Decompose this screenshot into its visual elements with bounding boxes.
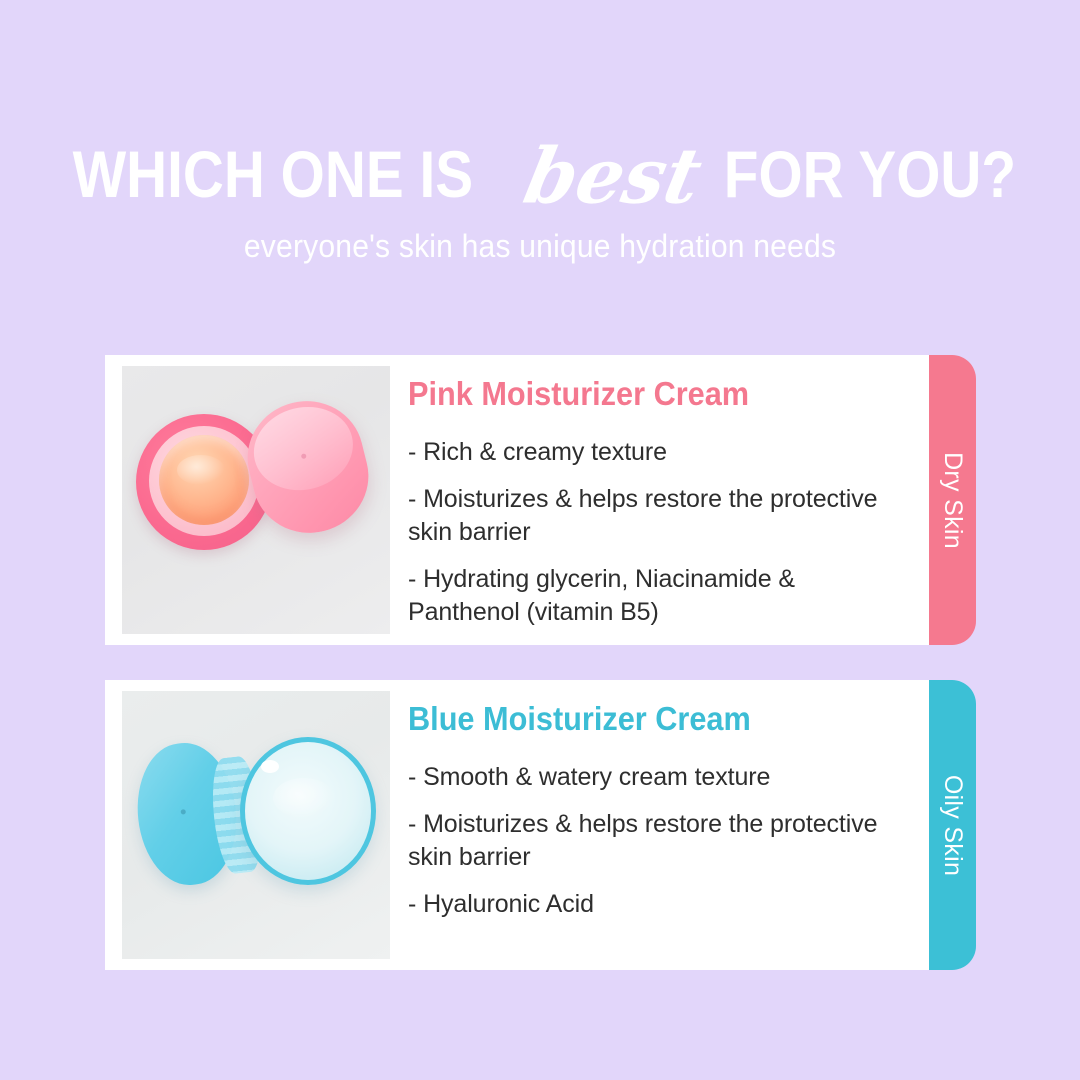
page-title: WHICH ONE ISbestFOR YOU? [0, 136, 1080, 208]
product-card-pink[interactable]: Pink Moisturizer Cream - Rich & creamy t… [105, 355, 933, 645]
product-title-pink: Pink Moisturizer Cream [408, 377, 887, 410]
header: WHICH ONE ISbestFOR YOU? everyone's skin… [0, 0, 1080, 320]
page-subtitle: everyone's skin has unique hydration nee… [32, 228, 1047, 265]
pink-jar-cream-icon [159, 435, 249, 525]
skin-type-tab-dry-label: Dry Skin [938, 452, 967, 549]
list-item: - Moisturizes & helps restore the protec… [408, 808, 900, 874]
blue-feature-list: - Smooth & watery cream texture - Moistu… [408, 761, 923, 921]
headline-part-2: FOR YOU? [724, 141, 1016, 207]
headline-part-1: WHICH ONE IS [73, 141, 473, 207]
list-item: - Moisturizes & helps restore the protec… [408, 483, 900, 549]
list-item: - Hyaluronic Acid [408, 888, 900, 921]
list-item: - Rich & creamy texture [408, 436, 900, 469]
list-item: - Smooth & watery cream texture [408, 761, 900, 794]
skin-type-tab-oily[interactable]: Oily Skin [929, 680, 976, 970]
headline-script-word: best [518, 138, 708, 214]
skin-type-tab-dry[interactable]: Dry Skin [929, 355, 976, 645]
pink-feature-list: - Rich & creamy texture - Moisturizes & … [408, 436, 923, 629]
blue-jar-body-icon [240, 737, 376, 885]
pink-moisturizer-jar-photo [122, 366, 390, 634]
pink-card-text: Pink Moisturizer Cream - Rich & creamy t… [390, 366, 933, 629]
blue-card-text: Blue Moisturizer Cream - Smooth & watery… [390, 691, 933, 921]
skin-type-tab-oily-label: Oily Skin [938, 774, 967, 875]
list-item: - Hydrating glycerin, Niacinamide & Pant… [408, 563, 900, 629]
product-title-blue: Blue Moisturizer Cream [408, 702, 887, 735]
blue-moisturizer-jar-photo [122, 691, 390, 959]
product-card-blue[interactable]: Blue Moisturizer Cream - Smooth & watery… [105, 680, 933, 970]
